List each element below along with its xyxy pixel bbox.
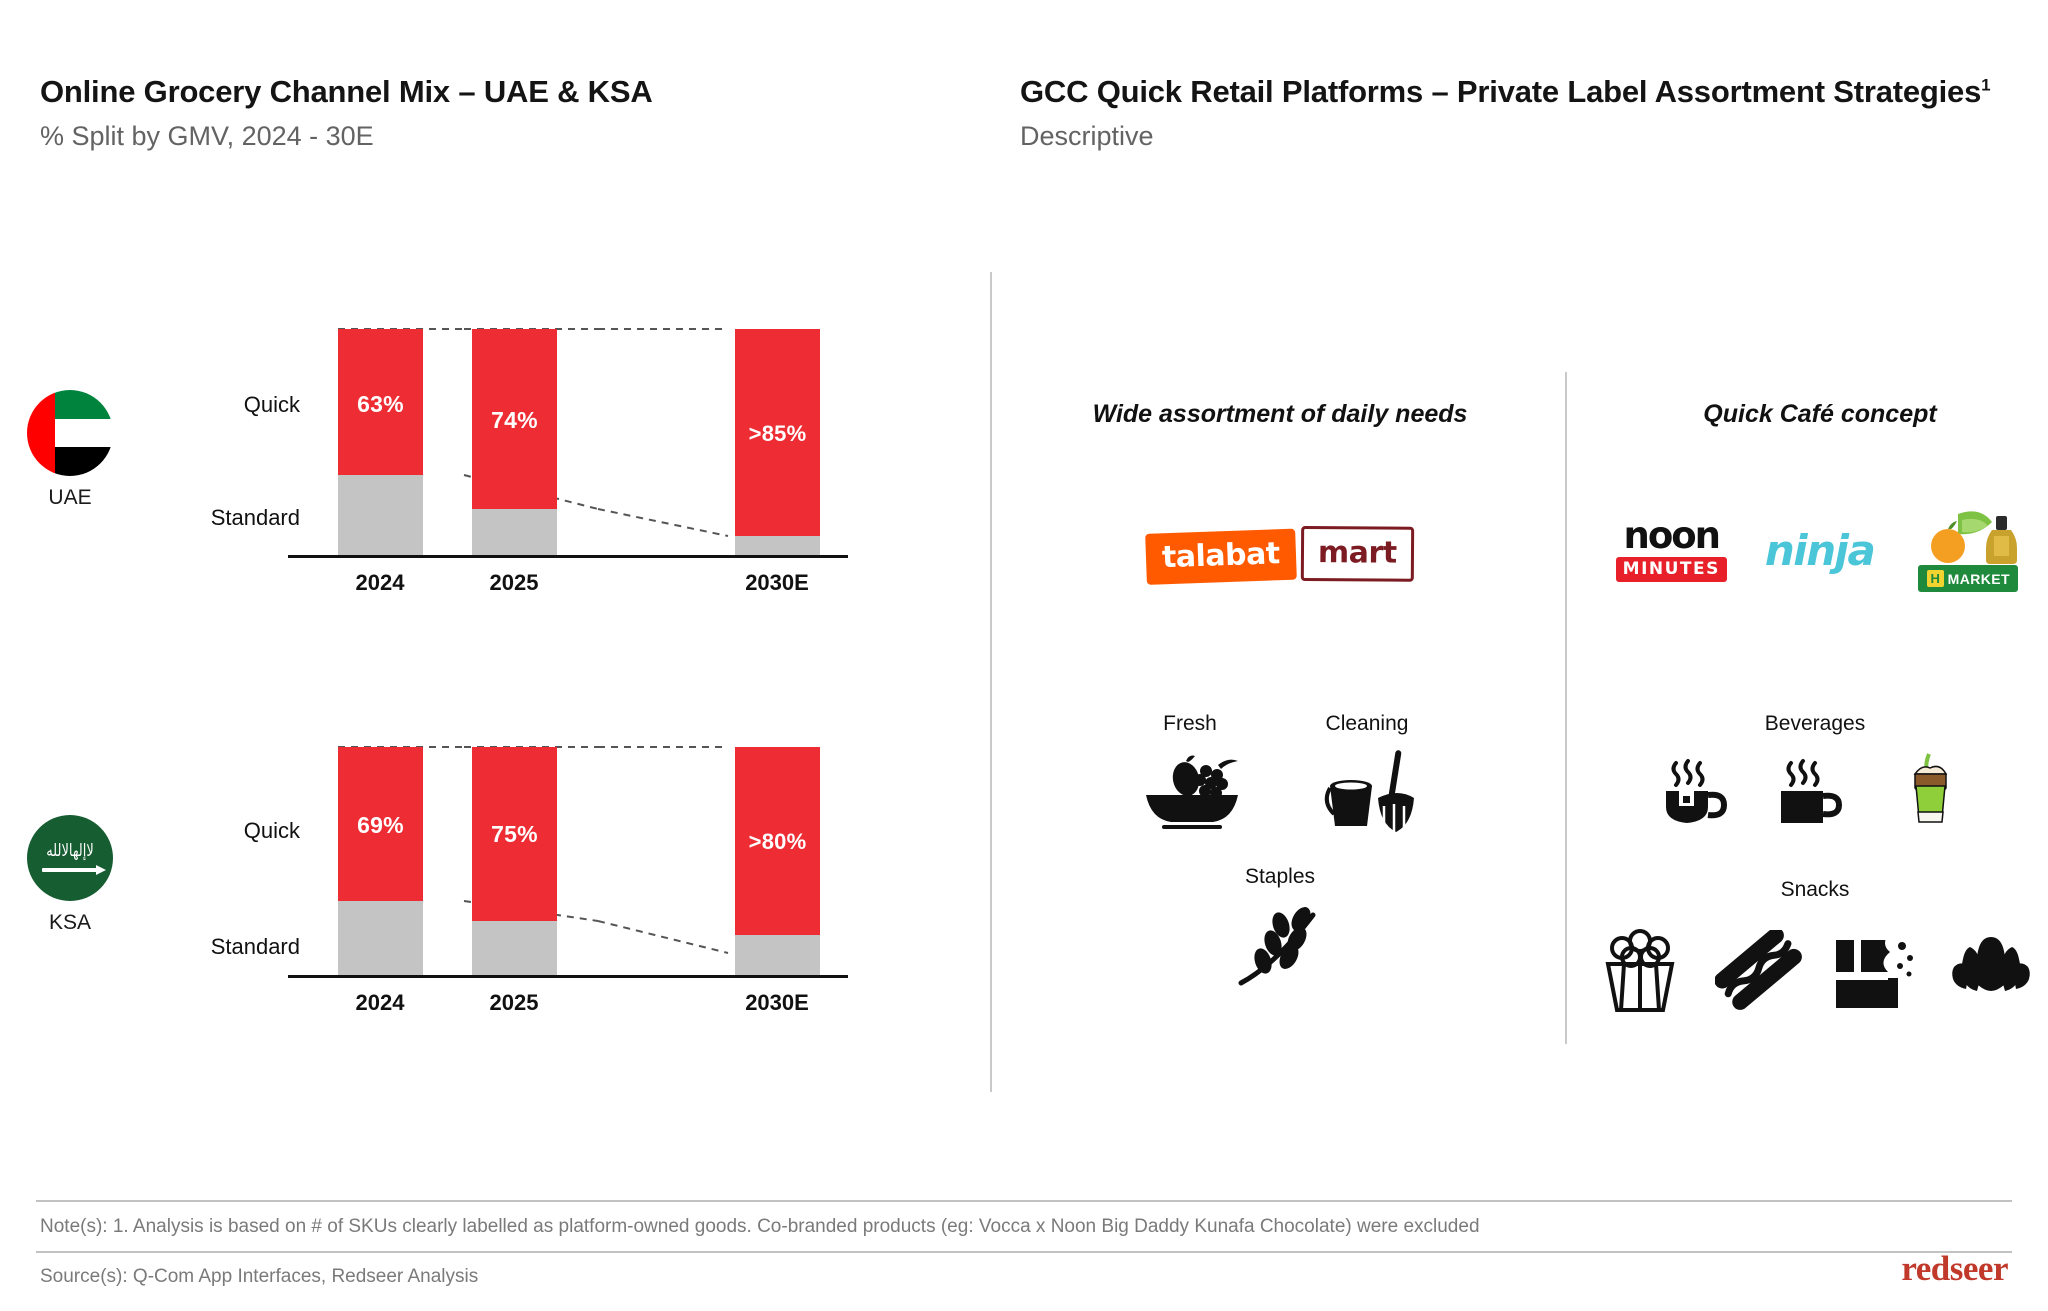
- column-heading-quick-cafe: Quick Café concept: [1620, 400, 2020, 429]
- bar-value-uae-2024: 63%: [338, 391, 423, 418]
- row-label-quick-ksa: Quick: [150, 818, 300, 844]
- ninja-logo[interactable]: ninja: [1765, 526, 1874, 575]
- right-panel-title-superscript: 1: [1981, 76, 1990, 95]
- coffee-mug-icon: [1775, 755, 1843, 832]
- bar-uae-2024: 63%: [338, 329, 423, 555]
- category-label-staples: Staples: [1185, 865, 1375, 889]
- bucket-mop-icon: [1320, 748, 1420, 839]
- ksa-flag-icon: لاإلهالالله: [27, 815, 113, 901]
- redseer-logo: redseer: [1901, 1249, 2008, 1289]
- column-divider: [1565, 372, 1567, 1044]
- fruit-bowl-icon: [1140, 755, 1244, 834]
- bar-value-ksa-2030e: >80%: [735, 829, 820, 855]
- bar-value-ksa-2025: 75%: [472, 821, 557, 848]
- bar-ksa-2030e: >80%: [735, 747, 820, 975]
- left-panel-subtitle: % Split by GMV, 2024 - 30E: [40, 120, 740, 154]
- country-label-uae: UAE: [10, 486, 130, 510]
- right-panel-title: GCC Quick Retail Platforms – Private Lab…: [1020, 72, 2030, 112]
- bar-ksa-2024: 69%: [338, 747, 423, 975]
- footer-divider-bottom: [36, 1251, 2012, 1253]
- right-panel-header: GCC Quick Retail Platforms – Private Lab…: [1020, 72, 2030, 153]
- bar-uae-2025: 74%: [472, 329, 557, 555]
- minutes-wordmark: MINUTES: [1616, 557, 1727, 582]
- noon-minutes-logo[interactable]: noon MINUTES: [1616, 518, 1727, 581]
- iced-shake-icon: [1907, 750, 1955, 833]
- slide-root: Online Grocery Channel Mix – UAE & KSA %…: [0, 0, 2048, 1311]
- bar-value-ksa-2024: 69%: [338, 812, 423, 839]
- left-panel-title: Online Grocery Channel Mix – UAE & KSA: [40, 72, 740, 112]
- wheat-grain-icon: [1235, 905, 1327, 992]
- country-badge-ksa: لاإلهالالله KSA: [10, 815, 130, 935]
- bar-ksa-2025: 75%: [472, 747, 557, 975]
- croissant-icon: [1948, 935, 2034, 1006]
- country-label-ksa: KSA: [10, 911, 130, 935]
- x-tick-ksa-2024: 2024: [325, 990, 435, 1016]
- category-label-snacks: Snacks: [1690, 878, 1940, 902]
- panel-divider: [990, 272, 992, 1092]
- x-tick-uae-2024: 2024: [325, 570, 435, 596]
- bar-ksa-2024-standard: [338, 901, 423, 975]
- hmarket-h-badge: H: [1927, 570, 1944, 587]
- column-heading-wide-assortment: Wide assortment of daily needs: [1030, 400, 1530, 429]
- right-panel-subtitle: Descriptive: [1020, 120, 2030, 154]
- chocolate-bar-icon: [1832, 928, 1916, 1017]
- mart-wordmark: mart: [1301, 525, 1414, 581]
- bar-uae-2030e-standard: [735, 536, 820, 555]
- row-label-standard-uae: Standard: [130, 505, 300, 531]
- logo-row-column1: talabat mart: [1030, 515, 1530, 595]
- footer-divider-top: [36, 1200, 2012, 1202]
- hmarket-produce-icon: [1912, 508, 2024, 564]
- hotdog-icon: [1715, 930, 1805, 1017]
- bar-uae-2030e: >85%: [735, 329, 820, 555]
- bar-value-uae-2025: 74%: [472, 407, 557, 434]
- x-tick-ksa-2030e: 2030E: [722, 990, 832, 1016]
- x-tick-uae-2030e: 2030E: [722, 570, 832, 596]
- logo-row-column2: noon MINUTES ninja H MARKET: [1600, 505, 2040, 595]
- uae-flag-icon: [27, 390, 113, 476]
- bar-uae-2025-standard: [472, 509, 557, 555]
- category-label-cleaning: Cleaning: [1272, 712, 1462, 736]
- noon-wordmark: noon: [1616, 518, 1727, 553]
- row-label-standard-ksa: Standard: [130, 934, 300, 960]
- row-label-quick-uae: Quick: [150, 392, 300, 418]
- x-tick-uae-2025: 2025: [459, 570, 569, 596]
- bar-ksa-2025-standard: [472, 921, 557, 975]
- x-axis-uae: [288, 555, 848, 558]
- left-panel-header: Online Grocery Channel Mix – UAE & KSA %…: [40, 72, 740, 153]
- category-label-fresh: Fresh: [1100, 712, 1280, 736]
- talabat-wordmark: talabat: [1146, 528, 1297, 584]
- x-axis-ksa: [288, 975, 848, 978]
- footer-notes: Note(s): 1. Analysis is based on # of SK…: [40, 1216, 1480, 1238]
- bar-ksa-2030e-standard: [735, 935, 820, 975]
- footer-source: Source(s): Q-Com App Interfaces, Redseer…: [40, 1266, 478, 1288]
- talabat-mart-logo[interactable]: talabat mart: [1146, 525, 1414, 586]
- tea-cup-icon: [1660, 755, 1728, 832]
- category-label-beverages: Beverages: [1690, 712, 1940, 736]
- hmarket-bar: H MARKET: [1918, 565, 2018, 592]
- hmarket-wordmark: MARKET: [1948, 571, 2010, 587]
- popcorn-icon: [1600, 928, 1680, 1017]
- country-badge-uae: UAE: [10, 390, 130, 510]
- bar-uae-2024-standard: [338, 475, 423, 555]
- hmarket-logo[interactable]: H MARKET: [1912, 508, 2024, 592]
- bar-value-uae-2030e: >85%: [735, 421, 820, 447]
- x-tick-ksa-2025: 2025: [459, 990, 569, 1016]
- right-panel-title-text: GCC Quick Retail Platforms – Private Lab…: [1020, 74, 1981, 109]
